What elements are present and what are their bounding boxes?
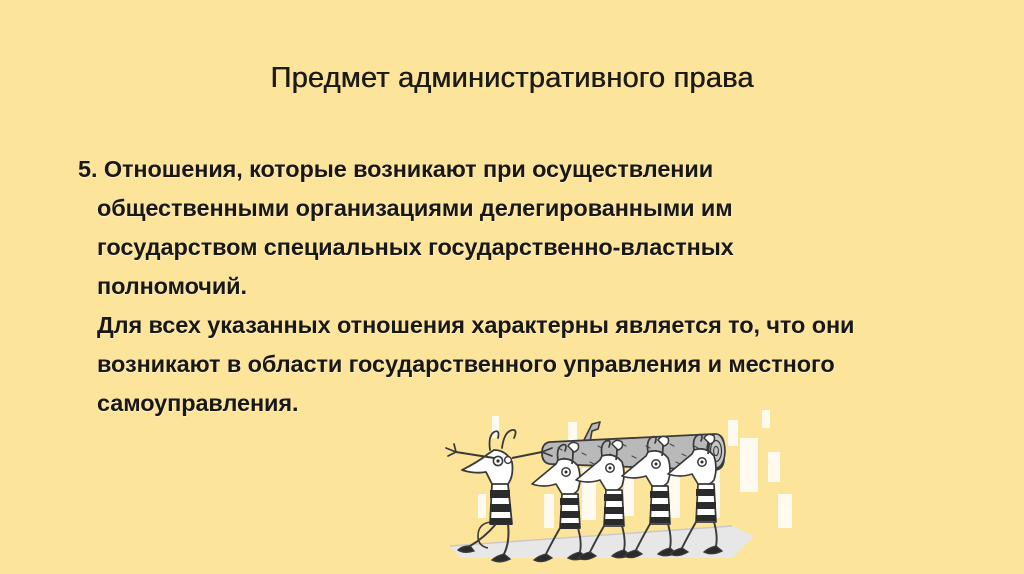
body-line-2: общественными организациями делегированн… bbox=[78, 189, 908, 228]
page-title: Предмет административного права bbox=[0, 62, 1024, 95]
cartoon-figures-carrying-log-graphic bbox=[432, 398, 812, 574]
body-line-4: полномочий. bbox=[78, 267, 908, 306]
body-line-1: 5. Отношения, которые возникают при осущ… bbox=[78, 150, 908, 189]
slide-body-text: 5. Отношения, которые возникают при осущ… bbox=[78, 150, 908, 423]
body-line-6: возникают в области государственного упр… bbox=[78, 345, 908, 384]
body-line-5: Для всех указанных отношения характерны … bbox=[78, 306, 908, 345]
cartoon-illustration bbox=[432, 398, 812, 574]
slide-canvas: Предмет административного права 5. Отнош… bbox=[0, 0, 1024, 574]
body-line-3: государством специальных государственно-… bbox=[78, 228, 908, 267]
